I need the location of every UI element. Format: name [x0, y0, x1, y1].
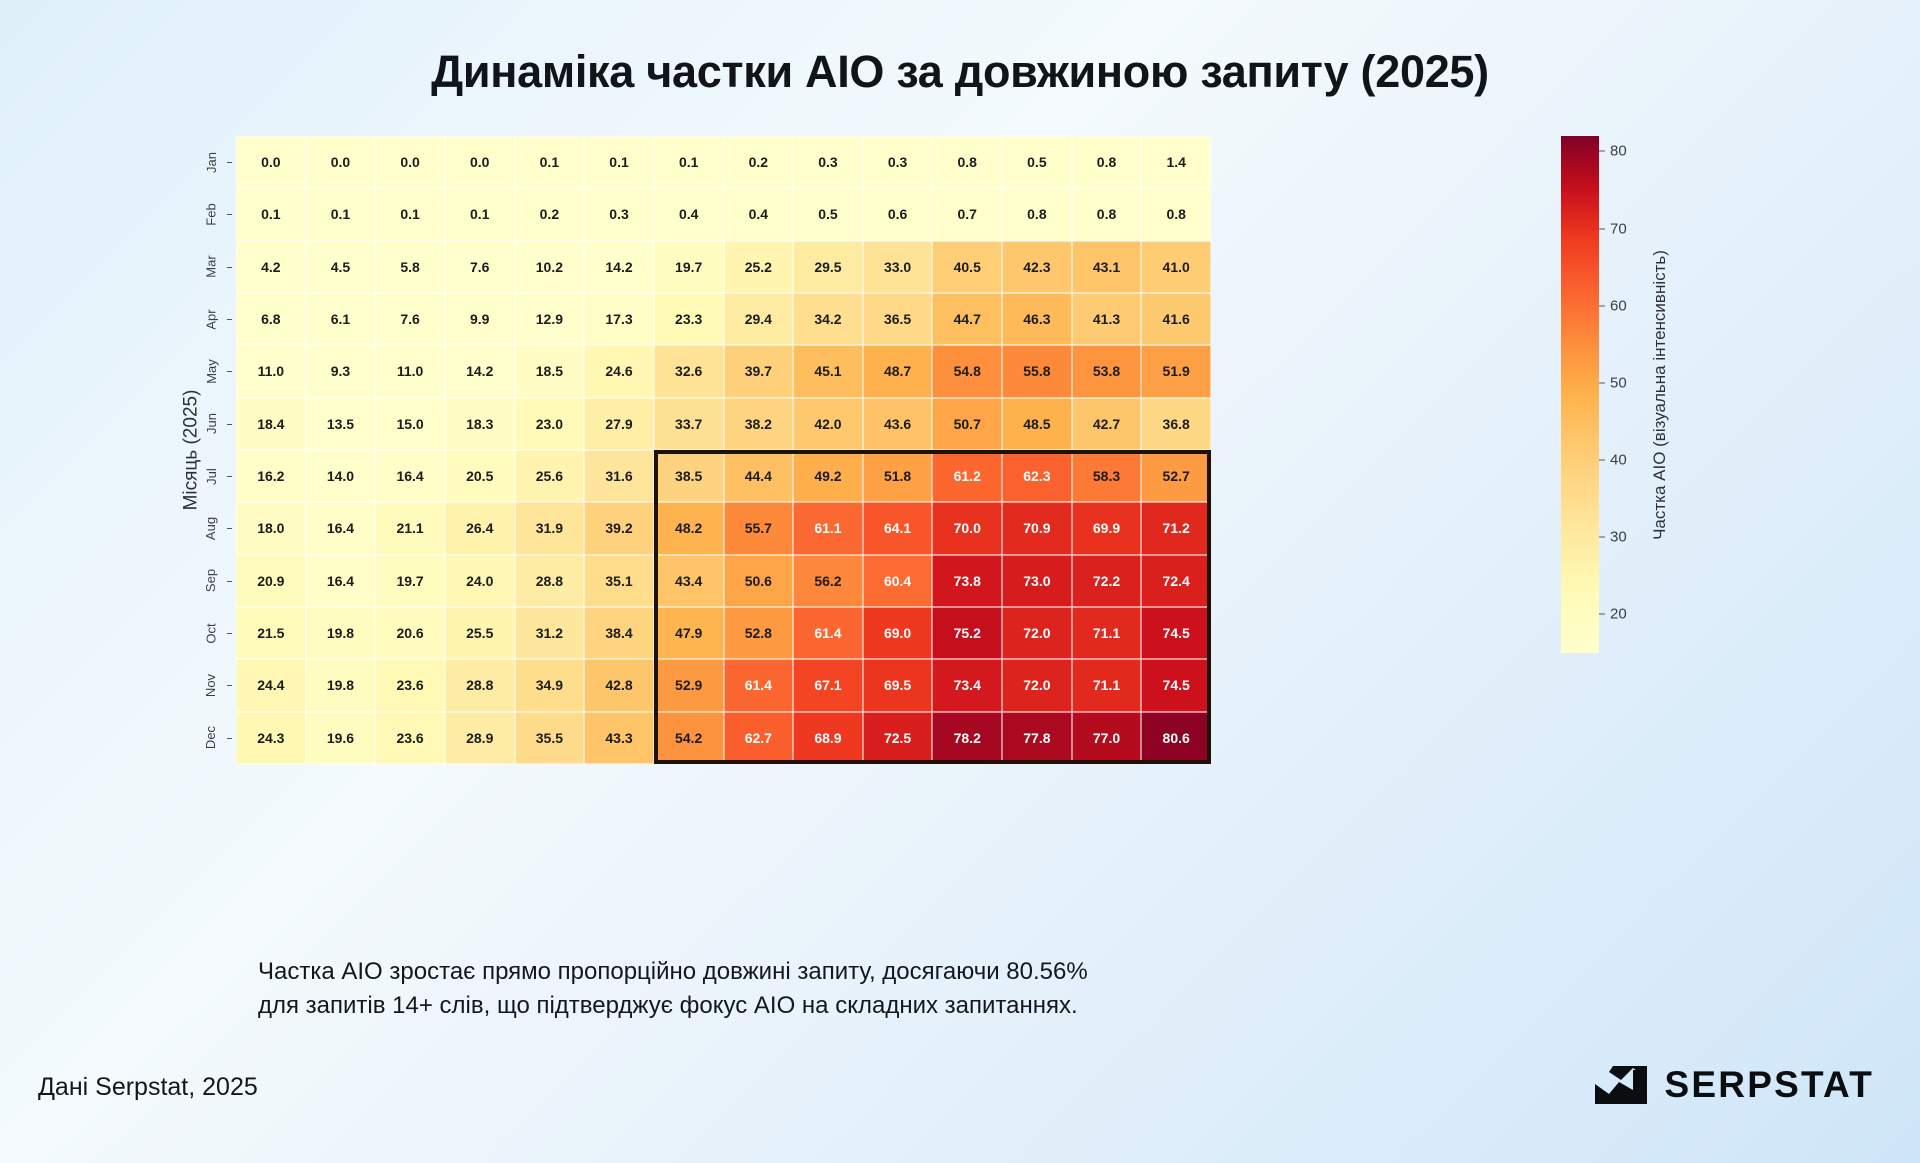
brand-wordmark: SERPSTAT: [1665, 1064, 1874, 1106]
heatmap-cell[interactable]: 4.5: [306, 241, 376, 293]
y-tick-dec: Dec: [198, 712, 224, 764]
y-tick-label: Jun: [204, 413, 219, 434]
heatmap-cell[interactable]: 31.9: [515, 502, 585, 554]
heatmap-cell[interactable]: 20.5: [445, 450, 515, 502]
heatmap-cell[interactable]: 24.6: [584, 345, 654, 397]
heatmap-cell[interactable]: 4.2: [236, 241, 306, 293]
colorbar-tick-mark: [1599, 305, 1605, 306]
heatmap-cell[interactable]: 31.6: [584, 450, 654, 502]
y-tick-label: May: [204, 359, 219, 384]
heatmap-cell[interactable]: 19.7: [375, 555, 445, 607]
heatmap-cell[interactable]: 18.0: [236, 502, 306, 554]
heatmap-cell[interactable]: 16.4: [375, 450, 445, 502]
heatmap-cell[interactable]: 18.3: [445, 398, 515, 450]
heatmap-cell[interactable]: 0.1: [584, 136, 654, 188]
heatmap-cell[interactable]: 0.1: [515, 136, 585, 188]
heatmap-cell[interactable]: 0.8: [1072, 188, 1142, 240]
heatmap-cell[interactable]: 35.1: [584, 555, 654, 607]
heatmap-figure: Місяць (2025) JanFebMarAprMayJunJulAugSe…: [236, 136, 1211, 764]
heatmap-cell[interactable]: 50.7: [932, 398, 1002, 450]
heatmap-cell[interactable]: 38.5: [654, 450, 724, 502]
colorbar-tick-mark: [1599, 382, 1605, 383]
heatmap-cell[interactable]: 61.4: [724, 659, 794, 711]
heatmap-cell[interactable]: 69.9: [1072, 502, 1142, 554]
heatmap-cell[interactable]: 44.4: [724, 450, 794, 502]
heatmap-cell[interactable]: 42.7: [1072, 398, 1142, 450]
heatmap-cell[interactable]: 0.8: [1002, 188, 1072, 240]
y-tick-label: Feb: [204, 203, 219, 225]
heatmap-cell[interactable]: 43.1: [1072, 241, 1142, 293]
heatmap-cell[interactable]: 77.0: [1072, 712, 1142, 764]
heatmap-cell[interactable]: 29.5: [793, 241, 863, 293]
y-tick-label: Nov: [204, 674, 219, 697]
heatmap-cell[interactable]: 47.9: [654, 607, 724, 659]
heatmap-cell[interactable]: 23.6: [375, 712, 445, 764]
heatmap-cell[interactable]: 14.2: [584, 241, 654, 293]
heatmap-cell[interactable]: 26.4: [445, 502, 515, 554]
heatmap-cell[interactable]: 25.2: [724, 241, 794, 293]
serpstat-logo: SERPSTAT: [1593, 1064, 1874, 1106]
heatmap-cell[interactable]: 28.9: [445, 712, 515, 764]
heatmap-cell[interactable]: 19.8: [306, 607, 376, 659]
heatmap-cell[interactable]: 71.2: [1141, 502, 1211, 554]
heatmap-cell[interactable]: 0.0: [306, 136, 376, 188]
y-tick-label: Aug: [203, 517, 218, 540]
y-tick-label: Oct: [203, 623, 218, 643]
heatmap-cell[interactable]: 45.1: [793, 345, 863, 397]
heatmap-cell[interactable]: 0.3: [793, 136, 863, 188]
heatmap-cell[interactable]: 21.1: [375, 502, 445, 554]
colorbar: 80706050403020 Частка AIO (візуальна інт…: [1561, 136, 1599, 653]
colorbar-tick-60: 60: [1599, 297, 1627, 314]
heatmap-cell[interactable]: 0.3: [584, 188, 654, 240]
heatmap-cell[interactable]: 10.2: [515, 241, 585, 293]
heatmap-cell[interactable]: 62.7: [724, 712, 794, 764]
y-tick-aug: Aug: [198, 502, 224, 554]
y-tick-label: Mar: [203, 256, 218, 278]
heatmap-cell[interactable]: 0.4: [654, 188, 724, 240]
heatmap-cell[interactable]: 0.5: [1002, 136, 1072, 188]
heatmap-cell[interactable]: 24.3: [236, 712, 306, 764]
heatmap-cell[interactable]: 23.3: [654, 293, 724, 345]
heatmap-cell[interactable]: 0.1: [236, 188, 306, 240]
heatmap-cell[interactable]: 42.0: [793, 398, 863, 450]
heatmap-cell[interactable]: 77.8: [1002, 712, 1072, 764]
heatmap-cell[interactable]: 71.1: [1072, 659, 1142, 711]
heatmap-cell[interactable]: 1.4: [1141, 136, 1211, 188]
heatmap-cell[interactable]: 41.6: [1141, 293, 1211, 345]
heatmap-cell[interactable]: 20.6: [375, 607, 445, 659]
heatmap-cell[interactable]: 0.2: [724, 136, 794, 188]
colorbar-tick-label: 80: [1610, 143, 1627, 160]
heatmap-cell[interactable]: 74.5: [1141, 659, 1211, 711]
colorbar-tick-label: 20: [1610, 606, 1627, 623]
heatmap-cell[interactable]: 15.0: [375, 398, 445, 450]
heatmap-cell[interactable]: 50.6: [724, 555, 794, 607]
heatmap-cell[interactable]: 38.4: [584, 607, 654, 659]
heatmap-cell[interactable]: 46.3: [1002, 293, 1072, 345]
heatmap-cell[interactable]: 42.8: [584, 659, 654, 711]
heatmap-cell[interactable]: 38.2: [724, 398, 794, 450]
heatmap-cell[interactable]: 27.9: [584, 398, 654, 450]
heatmap-cell[interactable]: 36.5: [863, 293, 933, 345]
heatmap-cell[interactable]: 61.4: [793, 607, 863, 659]
heatmap-cell[interactable]: 16.4: [306, 555, 376, 607]
heatmap-cell[interactable]: 25.5: [445, 607, 515, 659]
heatmap-cell[interactable]: 41.3: [1072, 293, 1142, 345]
heatmap-cell[interactable]: 16.2: [236, 450, 306, 502]
heatmap-cell[interactable]: 51.9: [1141, 345, 1211, 397]
heatmap-cell[interactable]: 0.4: [724, 188, 794, 240]
heatmap-cell[interactable]: 34.9: [515, 659, 585, 711]
heatmap-cell[interactable]: 5.8: [375, 241, 445, 293]
y-tick-jan: Jan: [198, 136, 224, 188]
heatmap-cell[interactable]: 31.2: [515, 607, 585, 659]
heatmap-cell[interactable]: 70.9: [1002, 502, 1072, 554]
heatmap-cell[interactable]: 11.0: [375, 345, 445, 397]
caption-line-1: Частка AIO зростає прямо пропорційно дов…: [258, 955, 1498, 989]
heatmap-cell[interactable]: 16.4: [306, 502, 376, 554]
heatmap-cell[interactable]: 51.8: [863, 450, 933, 502]
caption: Частка AIO зростає прямо пропорційно дов…: [258, 955, 1498, 1023]
heatmap-cell[interactable]: 52.9: [654, 659, 724, 711]
heatmap-cell[interactable]: 34.2: [793, 293, 863, 345]
colorbar-label: Частка AIO (візуальна інтенсивність): [1647, 136, 1673, 653]
heatmap-cell[interactable]: 0.0: [236, 136, 306, 188]
heatmap-cell[interactable]: 73.4: [932, 659, 1002, 711]
slide-canvas: Динаміка частки AIO за довжиною запиту (…: [0, 0, 1920, 1163]
heatmap-cell[interactable]: 6.1: [306, 293, 376, 345]
heatmap-cell[interactable]: 0.1: [375, 188, 445, 240]
heatmap-cell[interactable]: 18.4: [236, 398, 306, 450]
heatmap-cell[interactable]: 9.3: [306, 345, 376, 397]
heatmap-cell[interactable]: 6.8: [236, 293, 306, 345]
heatmap-cell[interactable]: 55.8: [1002, 345, 1072, 397]
y-tick-feb: Feb: [198, 188, 224, 240]
heatmap-cell[interactable]: 72.4: [1141, 555, 1211, 607]
heatmap-cell[interactable]: 19.8: [306, 659, 376, 711]
heatmap-cell[interactable]: 73.8: [932, 555, 1002, 607]
heatmap-grid[interactable]: 0.00.00.00.00.10.10.10.20.30.30.80.50.81…: [236, 136, 1211, 764]
heatmap-cell[interactable]: 25.6: [515, 450, 585, 502]
heatmap-cell[interactable]: 7.6: [445, 241, 515, 293]
heatmap-cell[interactable]: 39.7: [724, 345, 794, 397]
heatmap-cell[interactable]: 43.6: [863, 398, 933, 450]
colorbar-tick-mark: [1599, 537, 1605, 538]
serpstat-arrow-icon: [1593, 1064, 1649, 1106]
heatmap-cell[interactable]: 18.5: [515, 345, 585, 397]
heatmap-cell[interactable]: 70.0: [932, 502, 1002, 554]
y-tick-jun: Jun: [198, 398, 224, 450]
heatmap-cell[interactable]: 73.0: [1002, 555, 1072, 607]
heatmap-cell[interactable]: 74.5: [1141, 607, 1211, 659]
heatmap-cell[interactable]: 49.2: [793, 450, 863, 502]
y-tick-label: Jul: [204, 468, 219, 485]
y-tick-jul: Jul: [198, 450, 224, 502]
heatmap-cell[interactable]: 23.0: [515, 398, 585, 450]
y-tick-label: Apr: [203, 309, 218, 329]
heatmap-cell[interactable]: 43.4: [654, 555, 724, 607]
heatmap-cell[interactable]: 62.3: [1002, 450, 1072, 502]
colorbar-tick-80: 80: [1599, 143, 1627, 160]
y-tick-label: Sep: [203, 569, 218, 592]
y-tick-mar: Mar: [198, 241, 224, 293]
colorbar-tick-mark: [1599, 151, 1605, 152]
heatmap-cell[interactable]: 61.2: [932, 450, 1002, 502]
colorbar-tick-label: 40: [1610, 452, 1627, 469]
heatmap-cell[interactable]: 56.2: [793, 555, 863, 607]
colorbar-tick-20: 20: [1599, 606, 1627, 623]
colorbar-tick-50: 50: [1599, 374, 1627, 391]
heatmap-cell[interactable]: 41.0: [1141, 241, 1211, 293]
page-title: Динаміка частки AIO за довжиною запиту (…: [0, 46, 1920, 98]
heatmap-cell[interactable]: 75.2: [932, 607, 1002, 659]
heatmap-cell[interactable]: 42.3: [1002, 241, 1072, 293]
heatmap-cell[interactable]: 24.4: [236, 659, 306, 711]
heatmap-cell[interactable]: 44.7: [932, 293, 1002, 345]
colorbar-tick-40: 40: [1599, 452, 1627, 469]
colorbar-tick-70: 70: [1599, 220, 1627, 237]
y-tick-apr: Apr: [198, 293, 224, 345]
heatmap-cell[interactable]: 32.6: [654, 345, 724, 397]
colorbar-gradient: [1561, 136, 1599, 653]
heatmap-cell[interactable]: 9.9: [445, 293, 515, 345]
heatmap-cell[interactable]: 60.4: [863, 555, 933, 607]
heatmap-cell[interactable]: 19.7: [654, 241, 724, 293]
heatmap-cell[interactable]: 14.0: [306, 450, 376, 502]
heatmap-cell[interactable]: 21.5: [236, 607, 306, 659]
y-tick-oct: Oct: [198, 607, 224, 659]
heatmap-cell[interactable]: 28.8: [515, 555, 585, 607]
heatmap-cell[interactable]: 48.2: [654, 502, 724, 554]
heatmap-cell[interactable]: 24.0: [445, 555, 515, 607]
heatmap-cell[interactable]: 0.0: [445, 136, 515, 188]
heatmap-cell[interactable]: 0.1: [654, 136, 724, 188]
heatmap-cell[interactable]: 29.4: [724, 293, 794, 345]
colorbar-tick-mark: [1599, 228, 1605, 229]
y-tick-nov: Nov: [198, 659, 224, 711]
colorbar-tick-30: 30: [1599, 529, 1627, 546]
heatmap-cell[interactable]: 61.1: [793, 502, 863, 554]
colorbar-tick-label: 60: [1610, 297, 1627, 314]
heatmap-cell[interactable]: 80.6: [1141, 712, 1211, 764]
heatmap-cell[interactable]: 0.7: [932, 188, 1002, 240]
heatmap-cell[interactable]: 48.7: [863, 345, 933, 397]
caption-line-2: для запитів 14+ слів, що підтверджує фок…: [258, 989, 1498, 1023]
heatmap-cell[interactable]: 28.8: [445, 659, 515, 711]
heatmap-cell[interactable]: 0.8: [1141, 188, 1211, 240]
heatmap-cell[interactable]: 69.0: [863, 607, 933, 659]
heatmap-cell[interactable]: 48.5: [1002, 398, 1072, 450]
colorbar-tick-label: 70: [1610, 220, 1627, 237]
source-note: Дані Serpstat, 2025: [38, 1073, 258, 1102]
heatmap-cell[interactable]: 13.5: [306, 398, 376, 450]
heatmap-cell[interactable]: 12.9: [515, 293, 585, 345]
heatmap-cell[interactable]: 36.8: [1141, 398, 1211, 450]
heatmap-cell[interactable]: 0.5: [793, 188, 863, 240]
heatmap-cell[interactable]: 39.2: [584, 502, 654, 554]
colorbar-tick-label: 50: [1610, 374, 1627, 391]
heatmap-cell[interactable]: 0.8: [1072, 136, 1142, 188]
heatmap-cell[interactable]: 0.1: [306, 188, 376, 240]
heatmap-cell[interactable]: 0.3: [863, 136, 933, 188]
heatmap-cell[interactable]: 53.8: [1072, 345, 1142, 397]
heatmap-cell[interactable]: 64.1: [863, 502, 933, 554]
heatmap-cell[interactable]: 19.6: [306, 712, 376, 764]
y-tick-label: Dec: [204, 726, 219, 749]
colorbar-tick-mark: [1599, 614, 1605, 615]
colorbar-tick-label: 30: [1610, 529, 1627, 546]
heatmap-cell[interactable]: 72.2: [1072, 555, 1142, 607]
heatmap-cell[interactable]: 14.2: [445, 345, 515, 397]
heatmap-cell[interactable]: 67.1: [793, 659, 863, 711]
heatmap-cell[interactable]: 54.8: [932, 345, 1002, 397]
heatmap-cell[interactable]: 23.6: [375, 659, 445, 711]
heatmap-cell[interactable]: 43.3: [584, 712, 654, 764]
heatmap-cell[interactable]: 20.9: [236, 555, 306, 607]
heatmap-cell[interactable]: 0.2: [515, 188, 585, 240]
heatmap-cell[interactable]: 54.2: [654, 712, 724, 764]
heatmap-cell[interactable]: 72.0: [1002, 607, 1072, 659]
y-axis-tick-labels: JanFebMarAprMayJunJulAugSepOctNovDec: [202, 136, 232, 764]
heatmap-cell[interactable]: 17.3: [584, 293, 654, 345]
heatmap-cell[interactable]: 58.3: [1072, 450, 1142, 502]
y-tick-may: May: [198, 345, 224, 397]
heatmap-cell[interactable]: 52.8: [724, 607, 794, 659]
heatmap-cell[interactable]: 71.1: [1072, 607, 1142, 659]
y-tick-sep: Sep: [198, 555, 224, 607]
heatmap-cell[interactable]: 52.7: [1141, 450, 1211, 502]
heatmap-cell[interactable]: 40.5: [932, 241, 1002, 293]
heatmap-cell[interactable]: 0.6: [863, 188, 933, 240]
colorbar-tick-mark: [1599, 460, 1605, 461]
heatmap-cell[interactable]: 72.5: [863, 712, 933, 764]
heatmap-cell[interactable]: 69.5: [863, 659, 933, 711]
heatmap-cell[interactable]: 0.0: [375, 136, 445, 188]
heatmap-cell[interactable]: 0.8: [932, 136, 1002, 188]
heatmap-cell[interactable]: 35.5: [515, 712, 585, 764]
heatmap-cell[interactable]: 33.7: [654, 398, 724, 450]
heatmap-cell[interactable]: 55.7: [724, 502, 794, 554]
y-tick-label: Jan: [204, 152, 219, 173]
heatmap-cell[interactable]: 11.0: [236, 345, 306, 397]
heatmap-cell[interactable]: 33.0: [863, 241, 933, 293]
heatmap-cell[interactable]: 7.6: [375, 293, 445, 345]
heatmap-cell[interactable]: 0.1: [445, 188, 515, 240]
heatmap-cell[interactable]: 68.9: [793, 712, 863, 764]
heatmap-cell[interactable]: 72.0: [1002, 659, 1072, 711]
heatmap-cell[interactable]: 78.2: [932, 712, 1002, 764]
